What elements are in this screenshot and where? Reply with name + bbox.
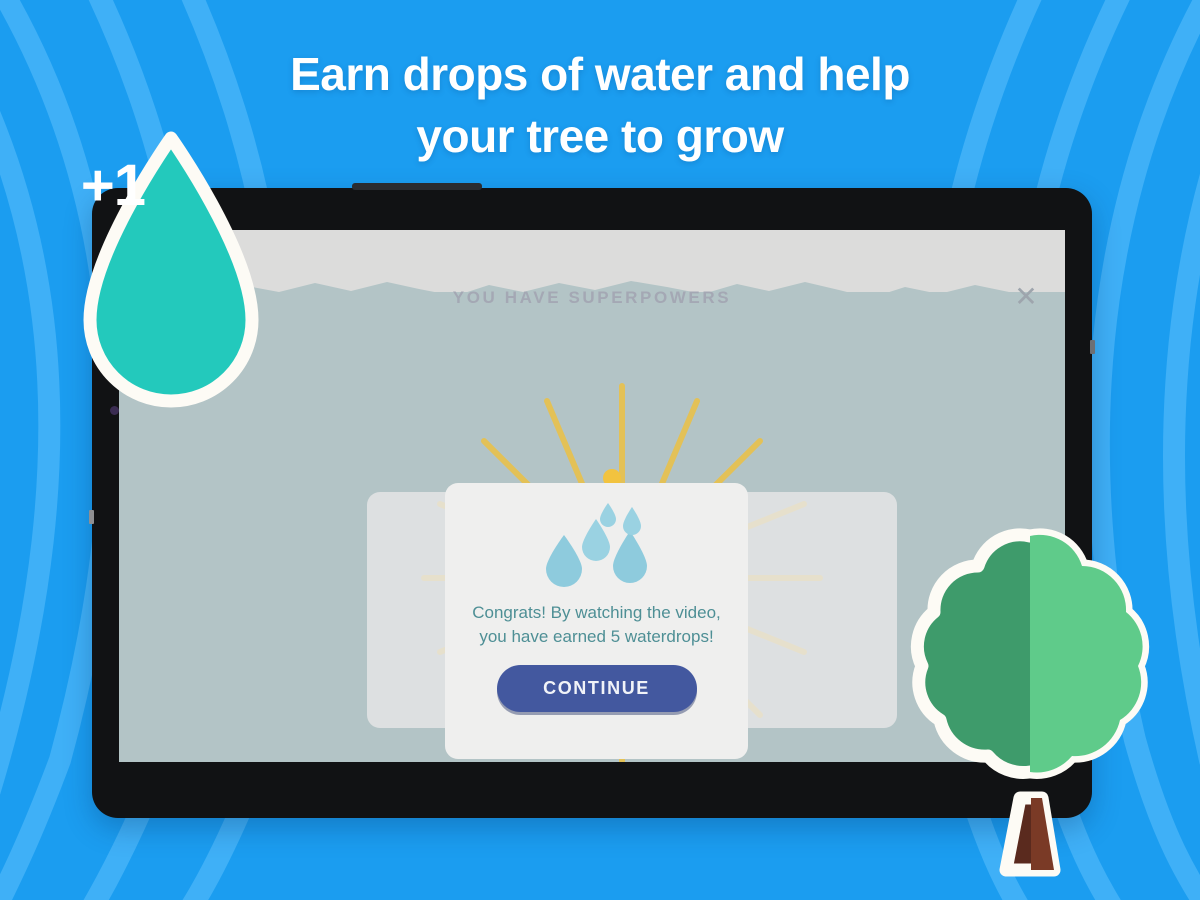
volume-button-icon[interactable] [89,510,94,524]
headline-line-1: Earn drops of water and help [290,48,910,100]
tree-icon [896,520,1164,888]
water-drops-icon [538,501,656,587]
speaker-slot-icon [352,183,482,190]
water-drop-icon [58,128,284,440]
close-icon[interactable]: ✕ [1009,280,1043,314]
power-button-icon[interactable] [1090,340,1095,354]
loading-spinner-icon [767,758,815,762]
continue-button[interactable]: CONTINUE [497,665,697,712]
reward-message: Congrats! By watching the video, you hav… [457,601,737,650]
reward-modal: Congrats! By watching the video, you hav… [445,483,748,759]
